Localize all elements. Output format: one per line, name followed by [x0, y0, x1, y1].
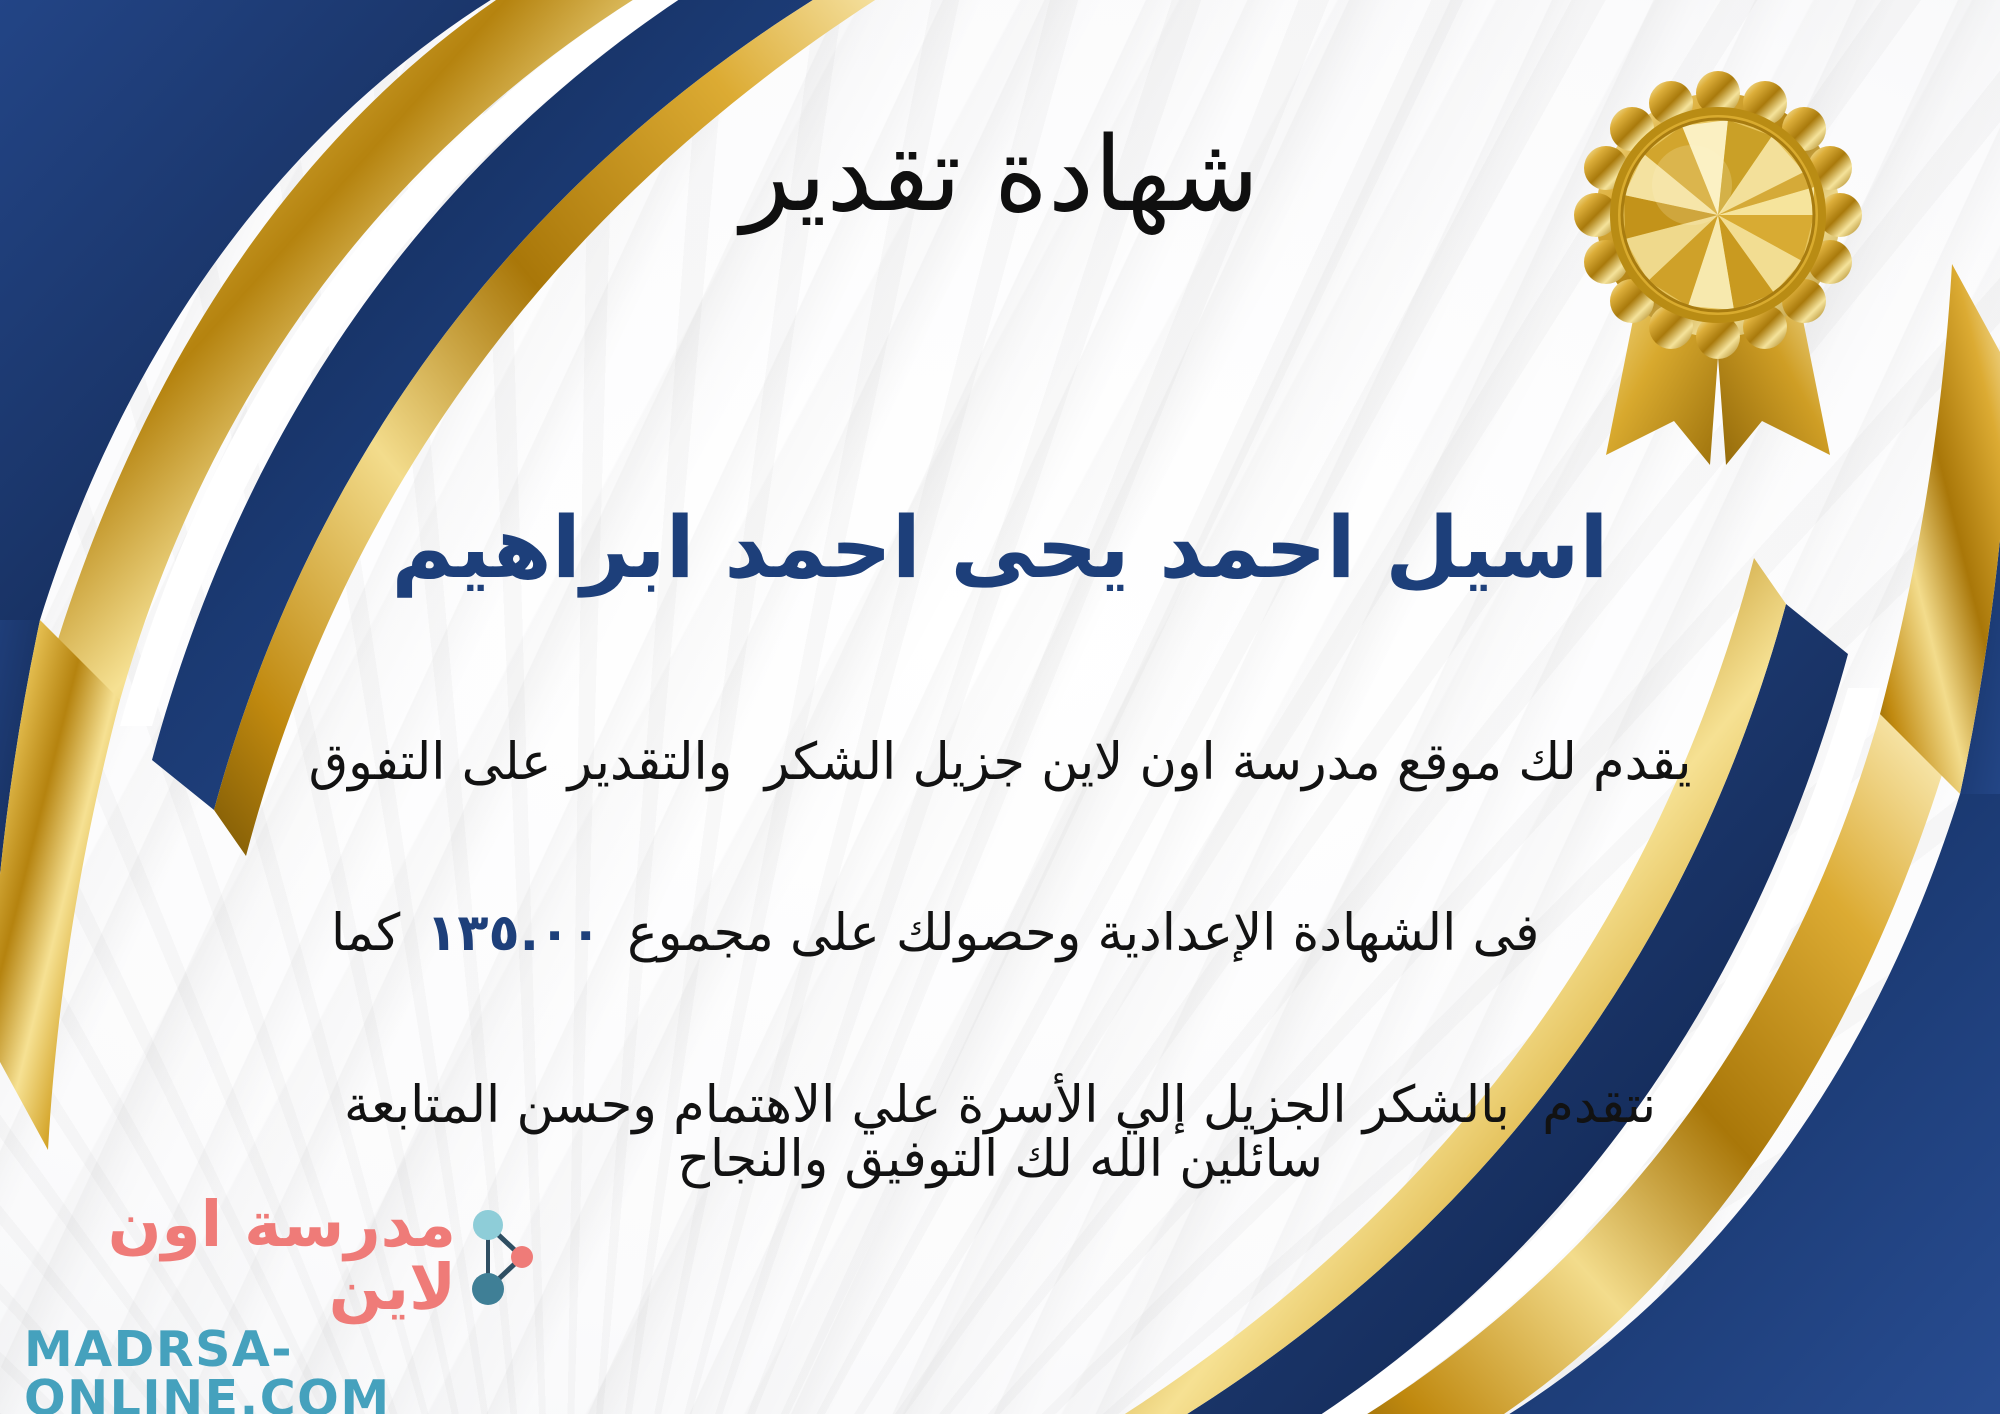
body-line-2: فى الشهادة الإعدادية وحصولك على مجموع١٣٥…	[210, 806, 1790, 1063]
closing-line: سائلين الله لك التوفيق والنجاح	[0, 1130, 2000, 1189]
body-line-1: يقدم لك موقع مدرسة اون لاين جزيل الشكر و…	[210, 720, 1790, 806]
body-line-2-suffix: كما	[331, 904, 400, 963]
body-line-2-prefix: فى الشهادة الإعدادية وحصولك على مجموع	[627, 904, 1539, 963]
logo-arabic-text: مدرسة اون لاين	[24, 1193, 456, 1319]
certificate-canvas: شهادة تقدير اسيل احمد يحى احمد ابراهيم ي…	[0, 0, 2000, 1414]
recipient-name: اسيل احمد يحى احمد ابراهيم	[0, 500, 2000, 598]
logo-domain-text: MADRSA-ONLINE.COM	[24, 1325, 544, 1414]
logo-primary-row: مدرسة اون لاين	[24, 1193, 544, 1319]
certificate-body: يقدم لك موقع مدرسة اون لاين جزيل الشكر و…	[210, 720, 1790, 1148]
network-nodes-icon	[466, 1201, 544, 1311]
site-logo[interactable]: مدرسة اون لاين MADRSA-ONLINE.COM	[24, 1238, 544, 1378]
page-title: شهادة تقدير	[0, 118, 2000, 233]
score-value: ١٣٥.٠٠	[400, 891, 627, 977]
